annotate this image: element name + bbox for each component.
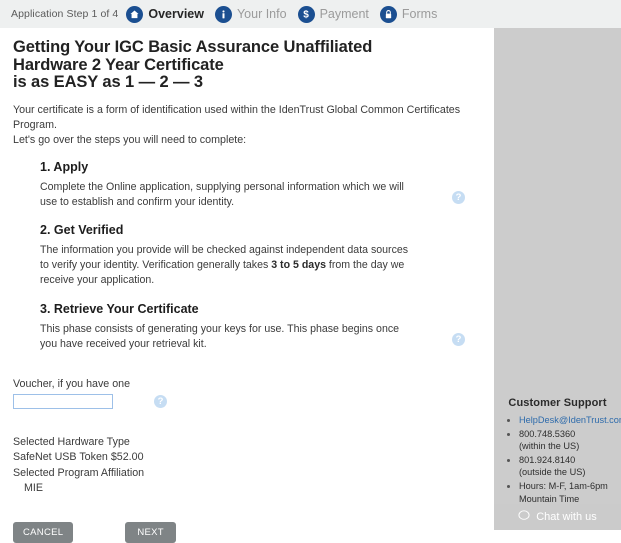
home-icon: [126, 6, 143, 23]
application-step-bar: Application Step 1 of 4 Overview Your In…: [0, 0, 621, 28]
selected-program-affiliation-value: MIE: [13, 481, 480, 496]
nav-item-payment[interactable]: $ Payment: [298, 6, 369, 23]
help-icon-voucher[interactable]: ?: [154, 395, 167, 408]
svg-text:$: $: [303, 9, 309, 20]
step-body-apply-text: Complete the Online application, supplyi…: [40, 181, 404, 208]
page-title: Getting Your IGC Basic Assurance Unaffil…: [13, 39, 480, 92]
nav-item-your-info[interactable]: Your Info: [215, 6, 287, 23]
voucher-label: Voucher, if you have one: [13, 378, 480, 390]
right-sidebar: Customer Support HelpDesk@IdenTrust.com …: [494, 28, 621, 530]
support-email-link[interactable]: HelpDesk@IdenTrust.com: [519, 415, 621, 425]
nav-item-your-info-label: Your Info: [237, 7, 287, 21]
nav-item-overview-label: Overview: [148, 7, 204, 21]
page-title-line-3: is as EASY as 1 — 2 — 3: [13, 73, 203, 91]
nav-item-forms[interactable]: Forms: [380, 6, 437, 23]
selected-program-affiliation-label: Selected Program Affiliation: [13, 466, 480, 481]
info-icon: [215, 6, 232, 23]
support-hours: Hours: M-F, 1am-6pm: [519, 481, 608, 491]
nav-item-forms-label: Forms: [402, 7, 437, 21]
lock-icon: [380, 6, 397, 23]
step-body-retrieve: This phase consists of generating your k…: [40, 322, 412, 352]
form-actions: CANCEL NEXT: [13, 522, 480, 543]
step-heading-retrieve: 3. Retrieve Your Certificate: [40, 302, 480, 316]
nav-item-overview[interactable]: Overview: [126, 6, 204, 23]
intro-line-2: Let's go over the steps you will need to…: [13, 134, 246, 146]
step-heading-apply: 1. Apply: [40, 160, 480, 174]
help-icon-retrieve[interactable]: ?: [452, 333, 465, 346]
support-phone-us: 800.748.5360: [519, 429, 575, 439]
step-heading-get-verified: 2. Get Verified: [40, 223, 480, 237]
list-item: 800.748.5360 (within the US): [519, 428, 613, 453]
main-content: Getting Your IGC Basic Assurance Unaffil…: [0, 28, 494, 530]
customer-support-list: HelpDesk@IdenTrust.com 800.748.5360 (wit…: [502, 414, 613, 505]
step-body-verified-bold: 3 to 5 days: [271, 259, 326, 271]
application-step-label: Application Step 1 of 4: [11, 8, 118, 20]
support-phone-us-note: (within the US): [519, 440, 613, 453]
next-button[interactable]: NEXT: [125, 522, 176, 543]
support-phone-intl-note: (outside the US): [519, 466, 613, 479]
voucher-input[interactable]: [13, 394, 113, 409]
steps-list: 1. Apply Complete the Online application…: [13, 160, 480, 352]
step-body-retrieve-text: This phase consists of generating your k…: [40, 323, 399, 350]
chat-with-us-button[interactable]: Chat with us: [494, 504, 621, 530]
cancel-button[interactable]: CANCEL: [13, 522, 73, 543]
selected-hardware-type-label: Selected Hardware Type: [13, 435, 480, 450]
step-block-apply: 1. Apply Complete the Online application…: [40, 160, 480, 210]
help-icon-apply[interactable]: ?: [452, 191, 465, 204]
list-item: HelpDesk@IdenTrust.com: [519, 414, 613, 427]
dollar-icon: $: [298, 6, 315, 23]
customer-support-title: Customer Support: [502, 397, 613, 409]
list-item: Hours: M-F, 1am-6pm Mountain Time: [519, 480, 613, 505]
page-title-line-2: Hardware 2 Year Certificate: [13, 56, 224, 74]
list-item: 801.924.8140 (outside the US): [519, 454, 613, 479]
voucher-section: Voucher, if you have one ?: [13, 378, 480, 409]
nav-item-payment-label: Payment: [320, 7, 369, 21]
customer-support-panel: Customer Support HelpDesk@IdenTrust.com …: [494, 397, 621, 506]
step-block-get-verified: 2. Get Verified The information you prov…: [40, 223, 480, 289]
step-body-get-verified: The information you provide will be chec…: [40, 243, 412, 289]
step-body-apply: Complete the Online application, supplyi…: [40, 180, 412, 210]
intro-line-1: Your certificate is a form of identifica…: [13, 104, 460, 131]
intro-paragraph: Your certificate is a form of identifica…: [13, 103, 480, 148]
selections-summary: Selected Hardware Type SafeNet USB Token…: [13, 435, 480, 497]
support-phone-intl: 801.924.8140: [519, 455, 575, 465]
page-title-line-1: Getting Your IGC Basic Assurance Unaffil…: [13, 38, 372, 56]
selected-hardware-type-value: SafeNet USB Token $52.00: [13, 450, 480, 465]
step-block-retrieve: 3. Retrieve Your Certificate This phase …: [40, 302, 480, 352]
chat-with-us-label: Chat with us: [536, 511, 597, 523]
chat-bubble-icon: [518, 508, 530, 526]
